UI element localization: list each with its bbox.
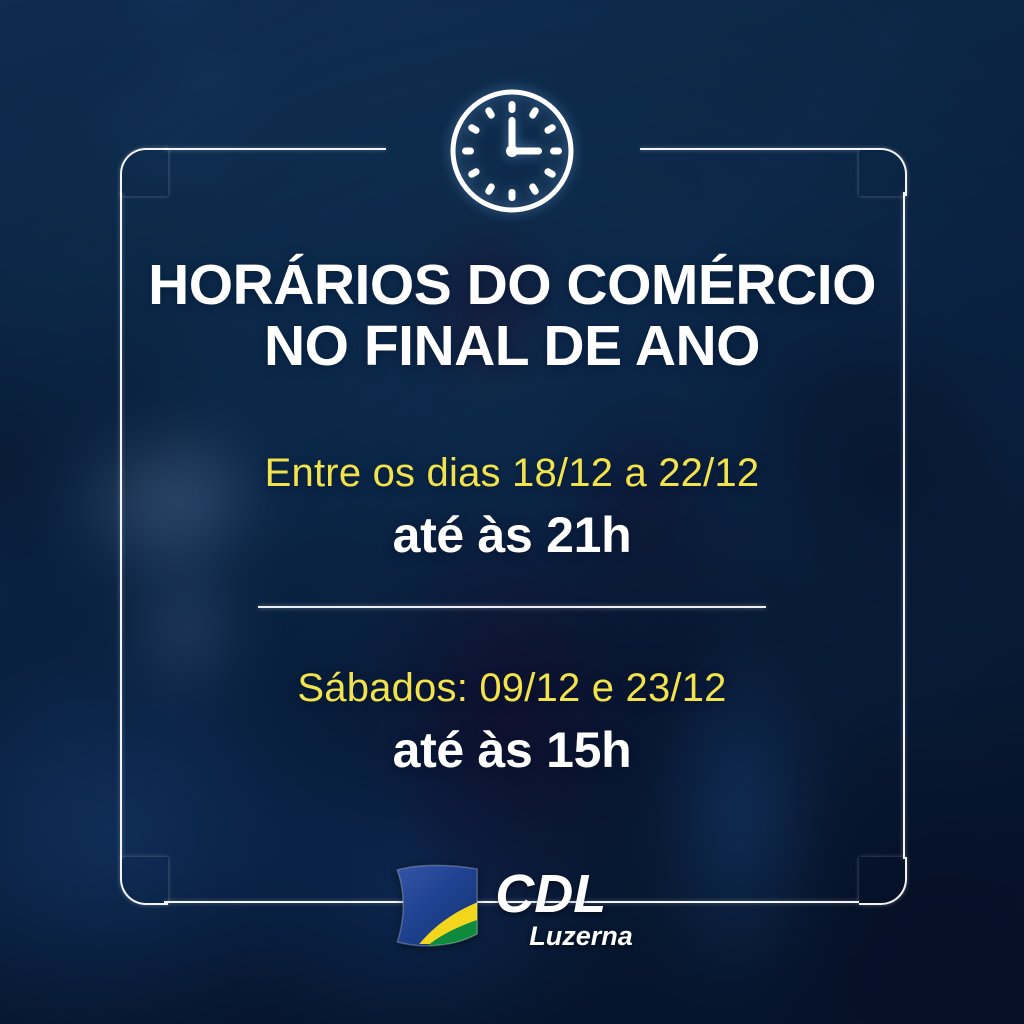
- poster-content: HORÁRIOS DO COMÉRCIO NO FINAL DE ANO Ent…: [0, 255, 1024, 779]
- frame-side-top-right: [640, 148, 859, 150]
- logo-name: CDL: [495, 867, 633, 921]
- frame-corner-top-left: [120, 148, 168, 196]
- schedule-block-saturdays: Sábados: 09/12 e 23/12 até às 15h: [0, 666, 1024, 779]
- schedule-dates-weekdays: Entre os dias 18/12 a 22/12: [0, 451, 1024, 496]
- headline-line-1: HORÁRIOS DO COMÉRCIO: [0, 255, 1024, 316]
- schedule-block-weekdays: Entre os dias 18/12 a 22/12 até às 21h: [0, 451, 1024, 564]
- schedule-hours-weekdays: até às 21h: [0, 506, 1024, 564]
- promo-poster: HORÁRIOS DO COMÉRCIO NO FINAL DE ANO Ent…: [0, 0, 1024, 1024]
- clock-icon: [444, 83, 580, 219]
- section-divider: [258, 606, 766, 608]
- logo-city: Luzerna: [529, 923, 633, 950]
- schedule-dates-saturdays: Sábados: 09/12 e 23/12: [0, 666, 1024, 711]
- frame-corner-bottom-left: [120, 857, 168, 905]
- cdl-logo: CDL Luzerna: [391, 864, 633, 952]
- headline-line-2: NO FINAL DE ANO: [0, 316, 1024, 377]
- cdl-flag-icon: [391, 864, 483, 952]
- frame-corner-top-right: [859, 148, 907, 196]
- logo-text: CDL Luzerna: [495, 867, 633, 950]
- frame-side-top-left: [164, 148, 386, 150]
- page-title: HORÁRIOS DO COMÉRCIO NO FINAL DE ANO: [0, 255, 1024, 377]
- frame-corner-bottom-right: [859, 857, 907, 905]
- schedule-hours-saturdays: até às 15h: [0, 721, 1024, 779]
